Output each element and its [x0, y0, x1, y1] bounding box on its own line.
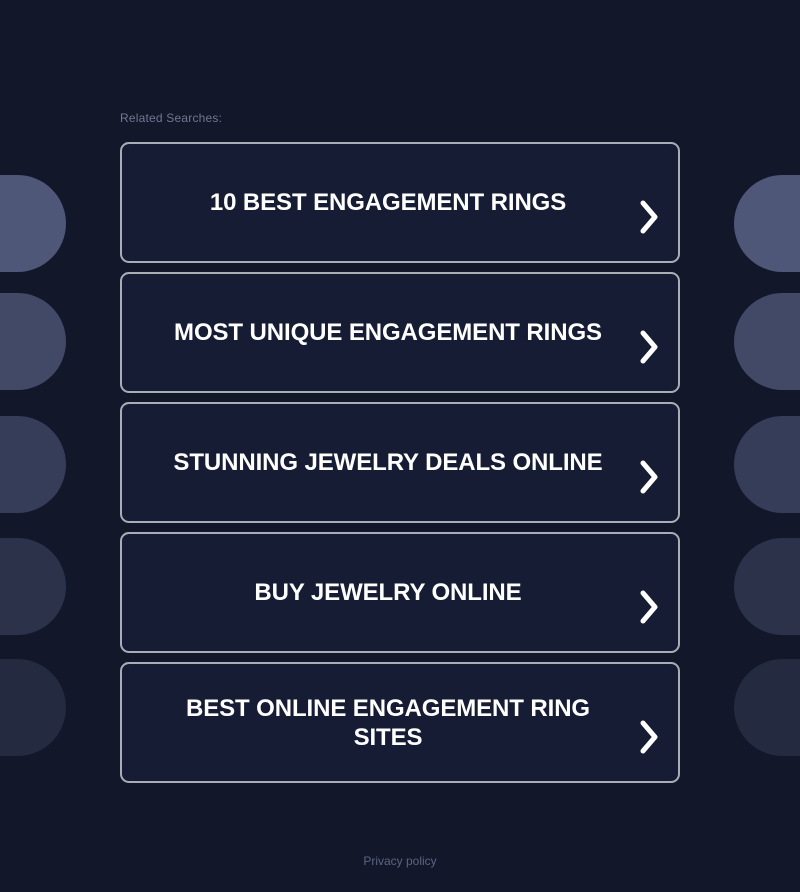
privacy-policy-link[interactable]: Privacy policy	[0, 853, 800, 870]
related-searches-page: Related Searches: 10 Best Engagement Rin…	[0, 0, 800, 892]
chevron-right-icon	[638, 200, 660, 234]
related-search-card[interactable]: Buy Jewelry Online	[120, 532, 680, 653]
chevron-right-icon	[638, 330, 660, 364]
related-search-title: Stunning Jewelry Deals Online	[152, 448, 624, 477]
related-search-title: Best Online Engagement Ring Sites	[152, 694, 624, 752]
chevron-right-icon	[638, 720, 660, 754]
related-search-title: 10 Best Engagement Rings	[152, 188, 624, 217]
related-search-card[interactable]: Most Unique Engagement Rings	[120, 272, 680, 393]
related-searches-list: 10 Best Engagement RingsMost Unique Enga…	[120, 142, 680, 783]
related-search-title: Most Unique Engagement Rings	[152, 318, 624, 347]
chevron-right-icon	[638, 460, 660, 494]
related-search-card[interactable]: 10 Best Engagement Rings	[120, 142, 680, 263]
related-search-title: Buy Jewelry Online	[152, 578, 624, 607]
chevron-right-icon	[638, 590, 660, 624]
related-search-card[interactable]: Stunning Jewelry Deals Online	[120, 402, 680, 523]
related-search-card[interactable]: Best Online Engagement Ring Sites	[120, 662, 680, 783]
related-searches-label: Related Searches:	[120, 110, 222, 126]
